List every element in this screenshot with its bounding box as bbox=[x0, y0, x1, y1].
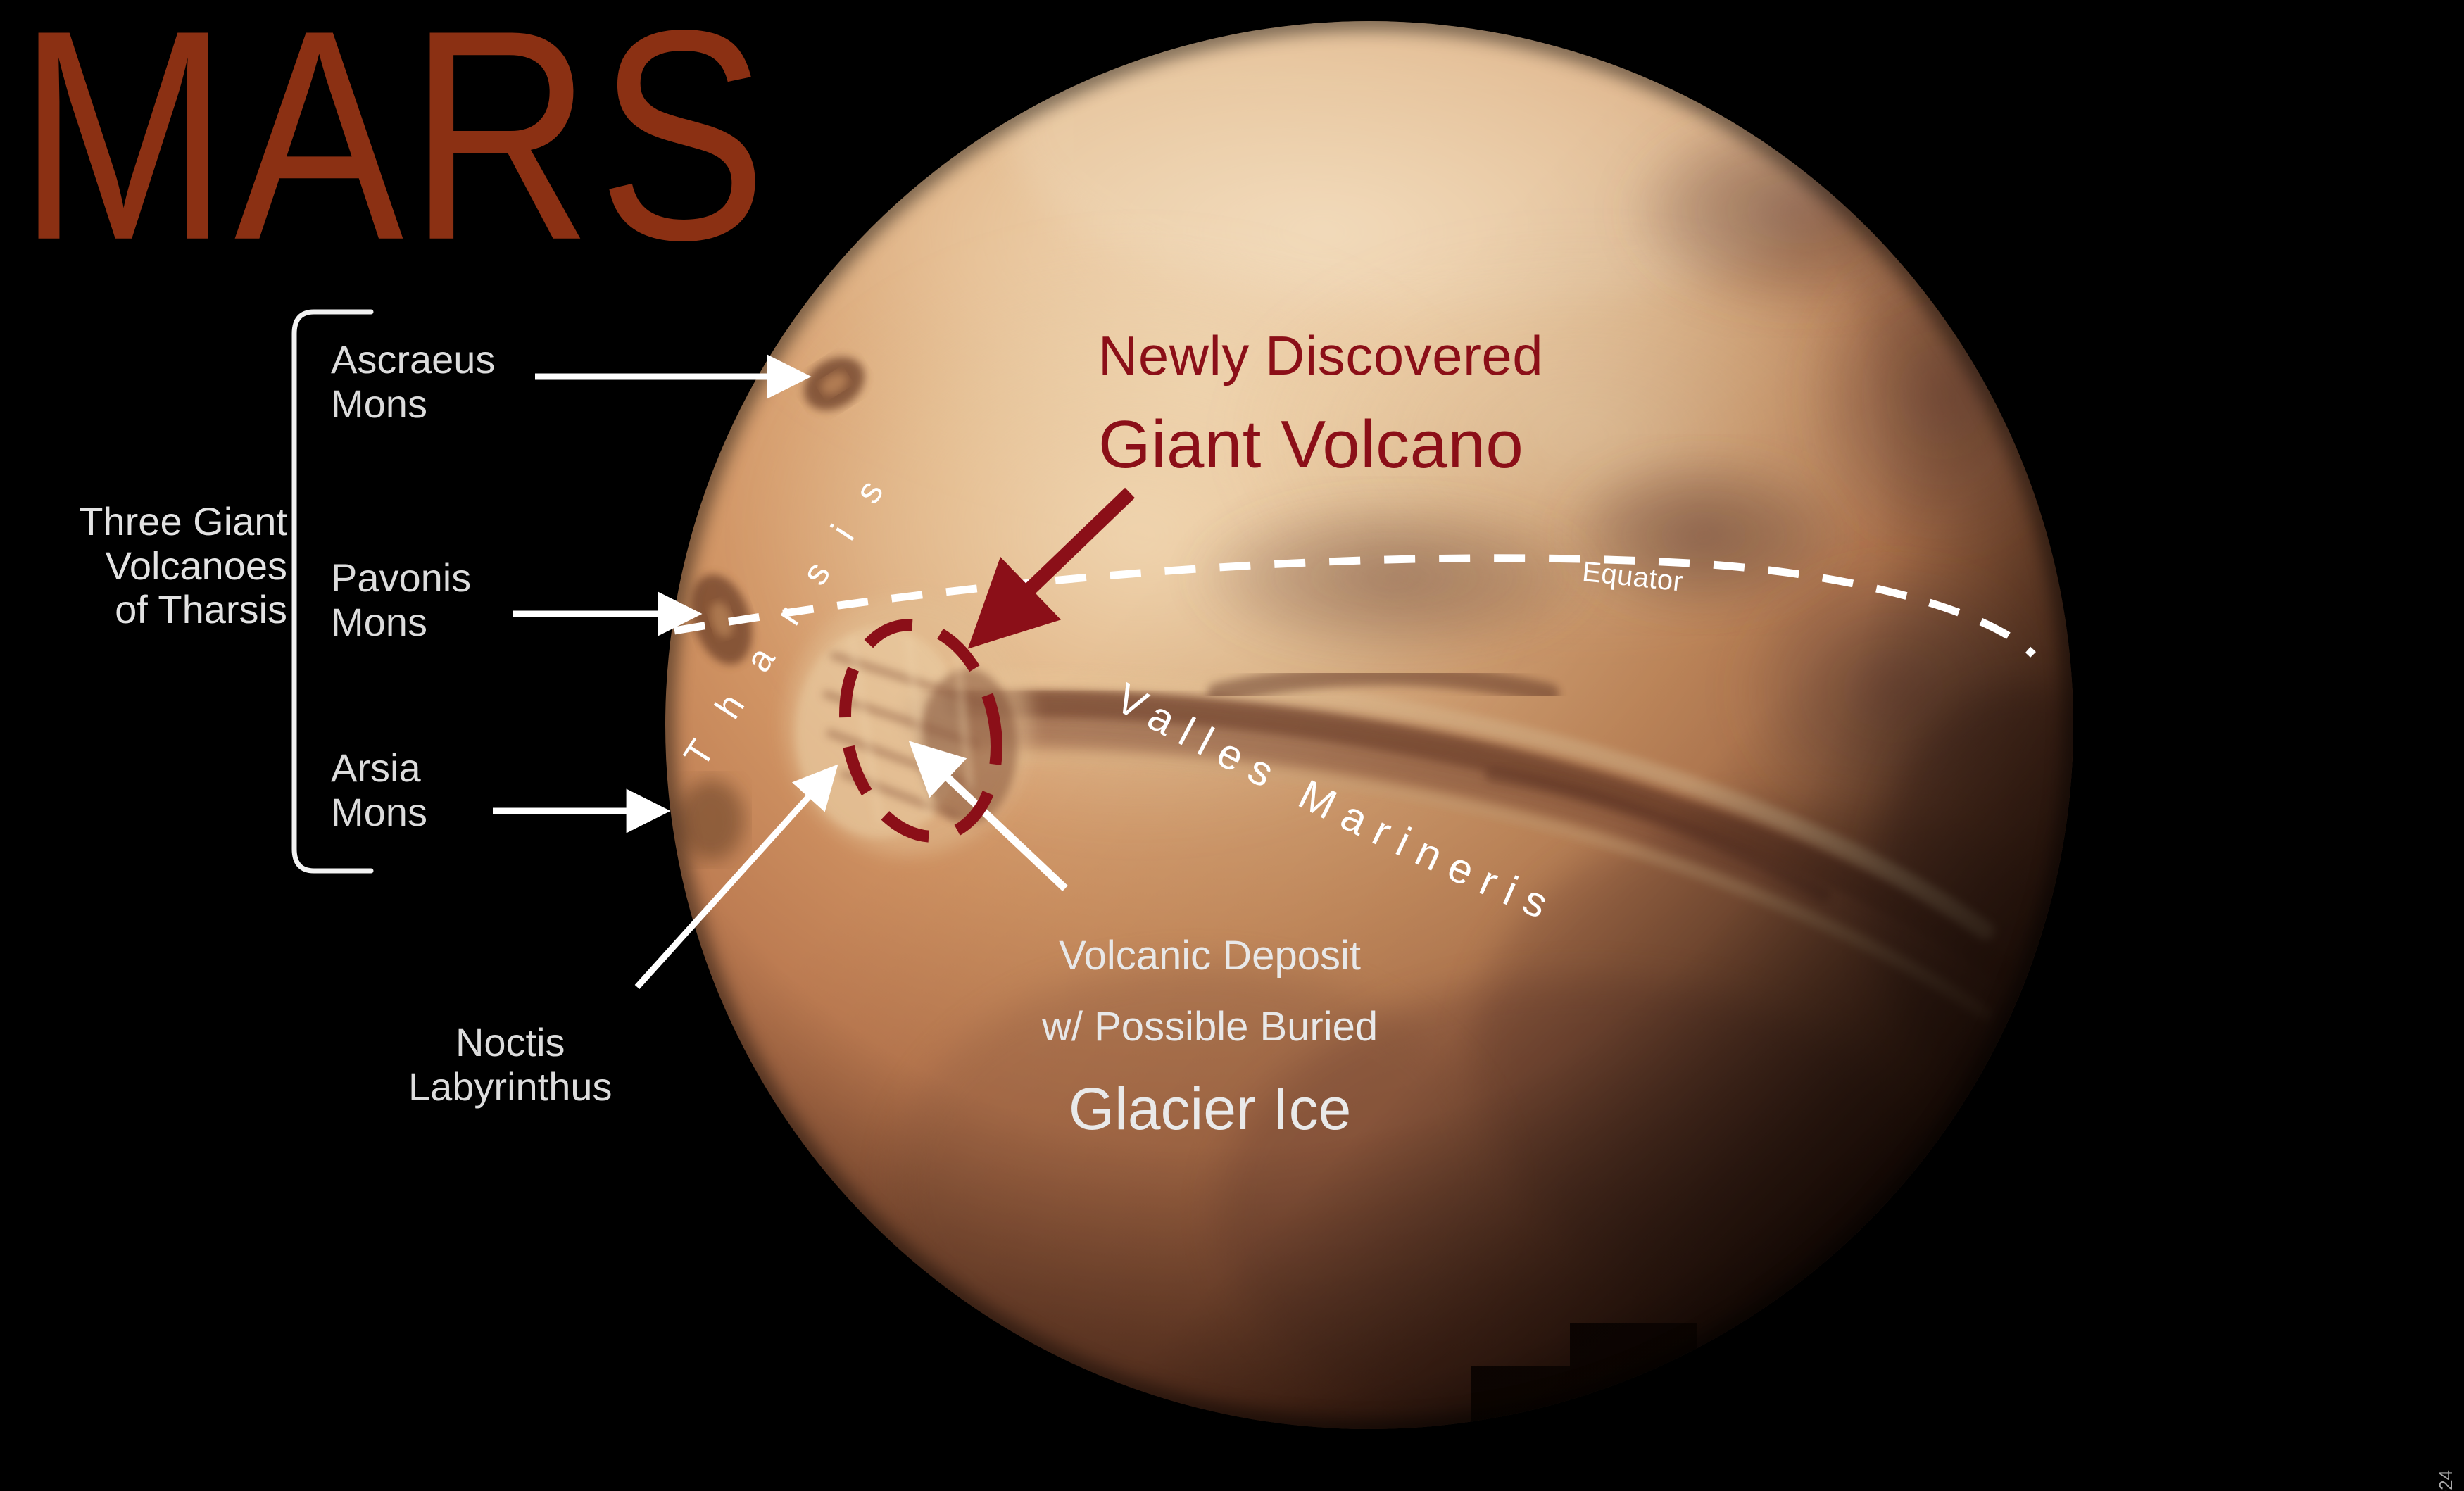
callout-volcanic-deposit-glacier-ice: Volcanic Deposit w/ Possible Buried Glac… bbox=[1042, 908, 1378, 1169]
image-credit: Background Image: NASA / USGS. Geologic … bbox=[2435, 1470, 2457, 1491]
mars-infographic: Valles Marineris MARS Three Giant Volcan… bbox=[0, 0, 2464, 1491]
leader-noctis bbox=[637, 771, 832, 987]
label-ascraeus-mons: Ascraeus Mons bbox=[331, 338, 495, 426]
arrow-glacier bbox=[917, 748, 1065, 888]
glacier-line-2: w/ Possible Buried bbox=[1042, 1005, 1378, 1050]
callout-line-1: Newly Discovered bbox=[1098, 328, 1543, 383]
label-noctis-labyrinthus: Noctis Labyrinthus bbox=[408, 1021, 612, 1109]
label-arsia-mons: Arsia Mons bbox=[331, 746, 427, 834]
label-pavonis-mons: Pavonis Mons bbox=[331, 556, 471, 644]
group-label-three-giant-volcanoes: Three Giant Volcanoes of Tharsis bbox=[13, 500, 287, 632]
label-valles-marineris: Valles Marineris bbox=[1108, 674, 1566, 933]
red-arrow-volcano bbox=[980, 493, 1130, 637]
glacier-line-1: Volcanic Deposit bbox=[1042, 933, 1378, 979]
callout-line-2: Giant Volcano bbox=[1098, 408, 1543, 482]
callout-newly-discovered-giant-volcano: Newly Discovered Giant Volcano bbox=[1098, 303, 1543, 507]
glacier-line-3: Glacier Ice bbox=[1042, 1076, 1378, 1143]
page-title: MARS bbox=[18, 0, 772, 285]
